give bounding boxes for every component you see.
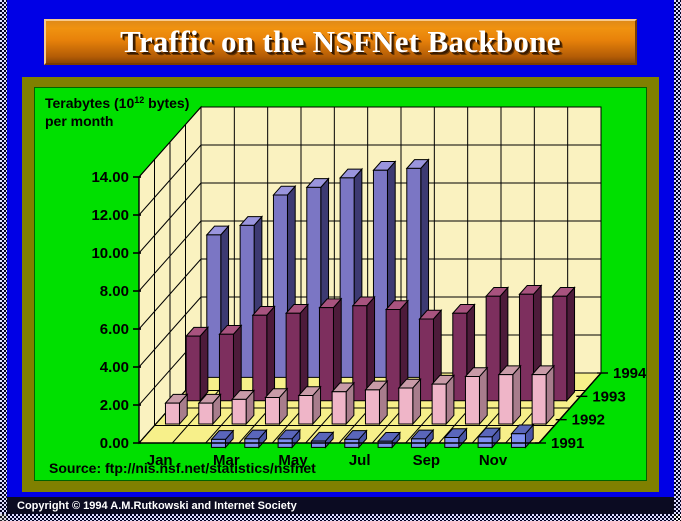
bar-front (253, 315, 267, 401)
x-tick-label: Nov (479, 452, 508, 469)
bar-front (311, 441, 325, 447)
bar-front (553, 296, 567, 401)
y-tick-label: 0.00 (100, 435, 129, 452)
bar-front (273, 195, 287, 377)
bar-front (232, 399, 246, 424)
bar-front (219, 334, 233, 401)
right-edge-dither (674, 0, 681, 521)
bottom-edge-dither (0, 514, 681, 521)
bar-front (240, 225, 254, 377)
y-axis-title-text-2: bytes) (144, 95, 189, 111)
bar-front (199, 403, 213, 424)
series-label-1992: 1992 (572, 412, 605, 429)
copyright-bar: Copyright © 1994 A.M.Rutkowski and Inter… (7, 497, 674, 514)
bar-1993-Feb (219, 325, 241, 400)
bar-1992-Aug (399, 379, 421, 424)
series-label-1993: 1993 (592, 388, 625, 405)
chart-frame: 0.002.004.006.008.0010.0012.0014.00JanMa… (22, 77, 659, 492)
bar-1992-Jan (165, 394, 187, 424)
bar-front (399, 388, 413, 424)
bar-1992-Nov (499, 366, 521, 424)
bar-front (378, 441, 392, 447)
page-title: Traffic on the NSFNet Backbone (120, 24, 561, 60)
bar-1992-Apr (265, 389, 287, 424)
left-edge-dither (0, 0, 7, 521)
y-tick-label: 10.00 (91, 245, 129, 262)
x-tick-label: Sep (413, 452, 441, 469)
bar-front (186, 336, 200, 401)
y-tick-label: 2.00 (100, 397, 129, 414)
series-label-1991: 1991 (551, 435, 584, 452)
bar-front (340, 178, 354, 378)
slide-canvas: Traffic on the NSFNet Backbone 0.002.004… (0, 0, 681, 521)
bar-front (207, 235, 221, 378)
bar-front (299, 396, 313, 425)
bar-side (300, 305, 308, 401)
bar-front (486, 296, 500, 401)
bar-1993-Mar (253, 306, 275, 400)
bar-side (233, 325, 241, 400)
bar-1993-Jan (186, 327, 208, 400)
bar-front (307, 187, 321, 377)
bar-front (478, 437, 492, 447)
bar-front (419, 319, 433, 401)
bar-1993-Apr (286, 305, 308, 401)
bar-side (546, 366, 554, 424)
bar-front (407, 168, 421, 377)
bar-front (365, 390, 379, 424)
bar-front (319, 308, 333, 401)
bar-front (532, 375, 546, 424)
y-tick-label: 8.00 (100, 283, 129, 300)
bar-1992-Mar (232, 391, 254, 424)
copyright-text: Copyright © 1994 A.M.Rutkowski and Inter… (7, 500, 297, 512)
bar-front (432, 384, 446, 424)
bar-1992-Jun (332, 383, 354, 424)
series-label-1994: 1994 (613, 365, 646, 382)
y-axis-title-text: Terabytes (10 (45, 95, 134, 111)
y-tick-label: 4.00 (100, 359, 129, 376)
bar-1992-Jul (365, 381, 387, 424)
bar-1992-Oct (465, 368, 487, 424)
bar-front (499, 375, 513, 424)
bar-1992-Sep (432, 375, 454, 424)
y-axis-title-line2: per month (45, 113, 113, 129)
bar-1992-May (299, 387, 321, 424)
bar-front (265, 397, 279, 424)
bar-side (200, 327, 208, 400)
y-axis-title-exponent: 12 (134, 95, 144, 105)
bar-front (373, 170, 387, 377)
bar-1992-Dec (532, 366, 554, 424)
title-bar: Traffic on the NSFNet Backbone (44, 19, 637, 65)
y-tick-label: 14.00 (91, 169, 129, 186)
bar-front (286, 313, 300, 400)
chart-plate: 0.002.004.006.008.0010.0012.0014.00JanMa… (34, 87, 647, 481)
bar-front (386, 310, 400, 401)
bar-front (511, 434, 525, 448)
y-tick-label: 6.00 (100, 321, 129, 338)
bar-side (479, 368, 487, 424)
bar-side (267, 306, 275, 400)
x-tick-label: Jul (349, 452, 371, 469)
bar-front (519, 294, 533, 400)
bar-1993-Dec (553, 287, 575, 400)
source-note: Source: ftp://nis.nsf.net/statistics/nsf… (49, 460, 316, 476)
bar-front (465, 377, 479, 425)
nsfnet-traffic-3d-bar-chart: 0.002.004.006.008.0010.0012.0014.00JanMa… (35, 88, 646, 480)
bar-front (332, 392, 346, 424)
bar-front (453, 313, 467, 400)
bar-front (165, 403, 179, 424)
y-axis-title-line1: Terabytes (1012 bytes) (45, 95, 189, 111)
y-tick-label: 12.00 (91, 207, 129, 224)
bar-side (513, 366, 521, 424)
bar-side (567, 287, 575, 400)
bar-1992-Feb (199, 394, 221, 424)
y-axis-ticks: 0.002.004.006.008.0010.0012.0014.00 (91, 169, 141, 452)
bar-front (353, 306, 367, 401)
